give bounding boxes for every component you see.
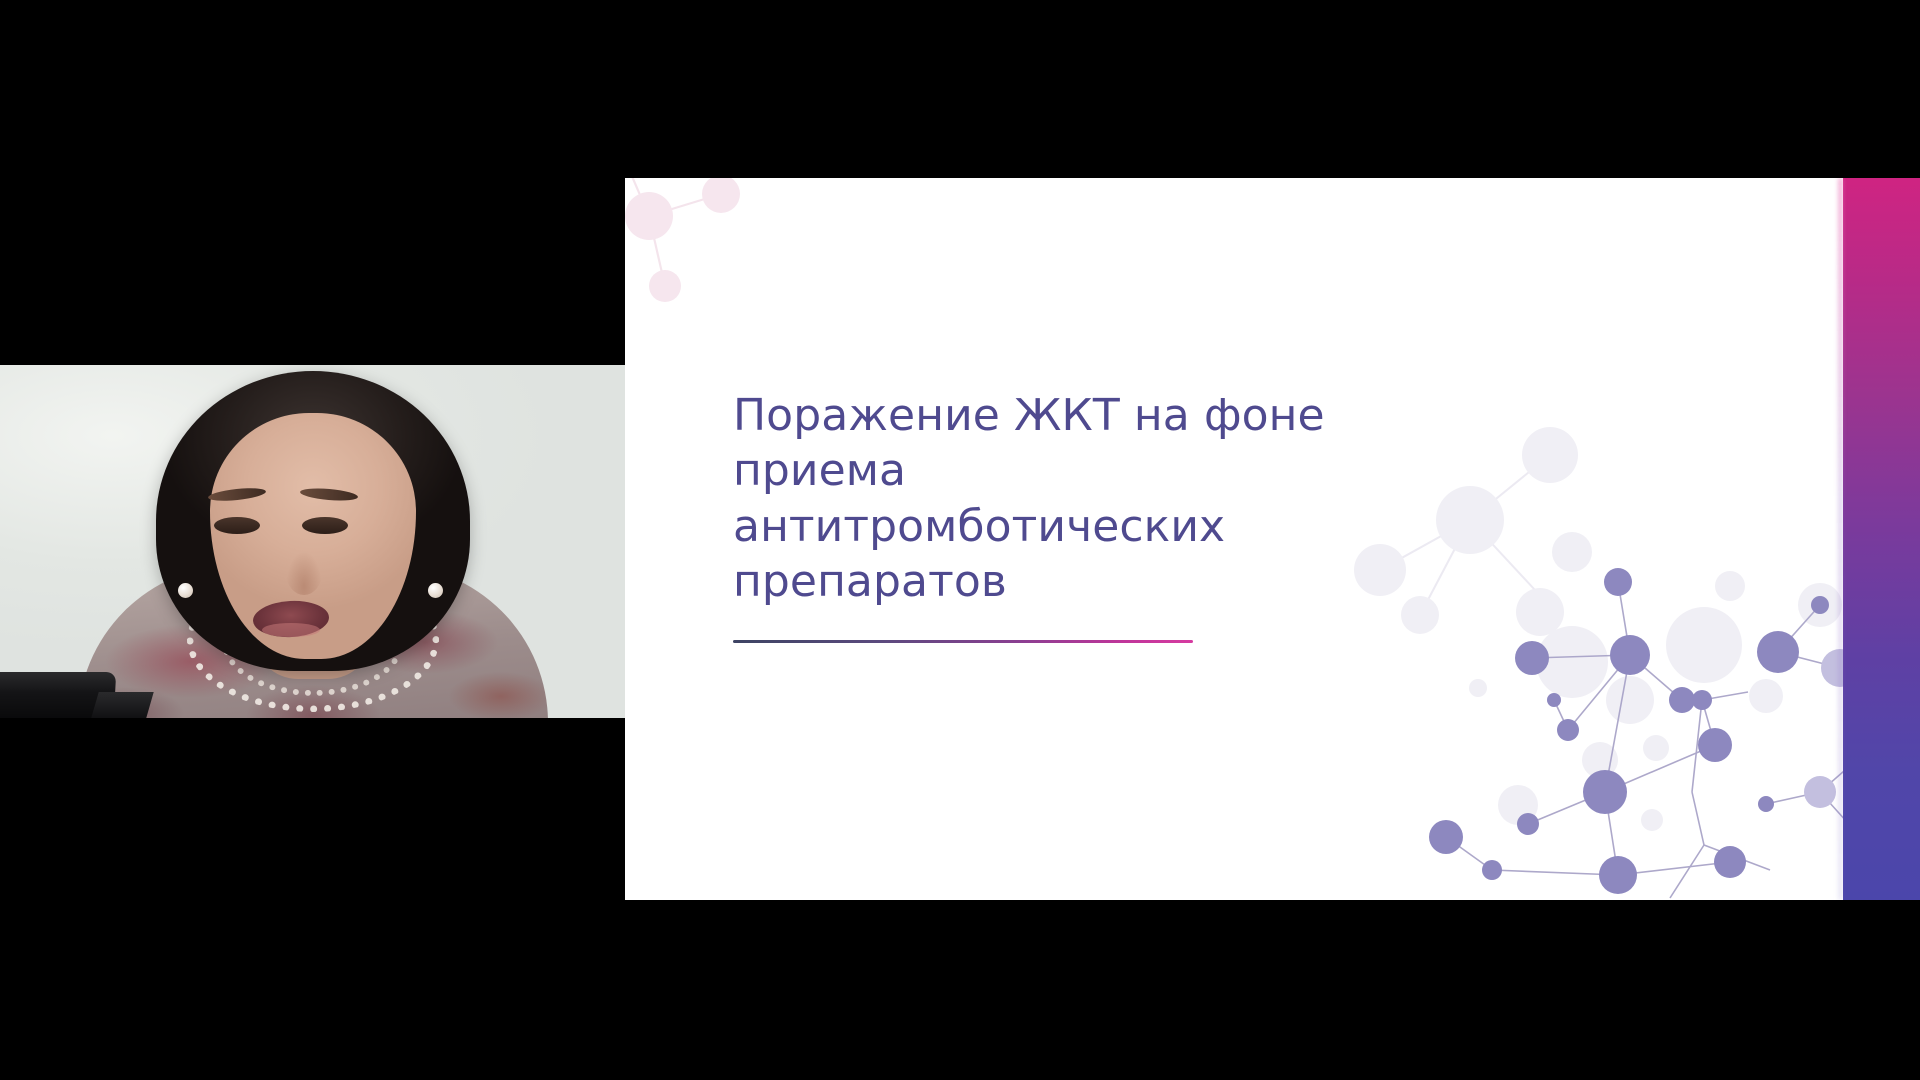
presentation-slide[interactable]: Поражение ЖКТ на фоне приема антитромбот… — [625, 178, 1920, 900]
pearl-earring-right — [428, 583, 443, 598]
lower-lip-highlight — [262, 623, 320, 637]
slide-title: Поражение ЖКТ на фоне приема антитромбот… — [733, 388, 1433, 610]
right-gradient-accent-bar — [1843, 178, 1920, 900]
desk-monitor-edge-secondary — [91, 692, 153, 718]
gradient-bar-glow — [1838, 178, 1843, 900]
nose — [286, 551, 322, 595]
eye-left — [214, 517, 260, 534]
pearl-earring-left — [178, 583, 193, 598]
molecule-network-topleft-icon — [625, 178, 833, 354]
slide-title-block: Поражение ЖКТ на фоне приема антитромбот… — [733, 388, 1433, 643]
title-underline-rule — [733, 640, 1193, 643]
presenter-video-feed[interactable] — [0, 365, 625, 718]
screen-root: Поражение ЖКТ на фоне приема антитромбот… — [0, 0, 1920, 1080]
eye-right — [302, 517, 348, 534]
